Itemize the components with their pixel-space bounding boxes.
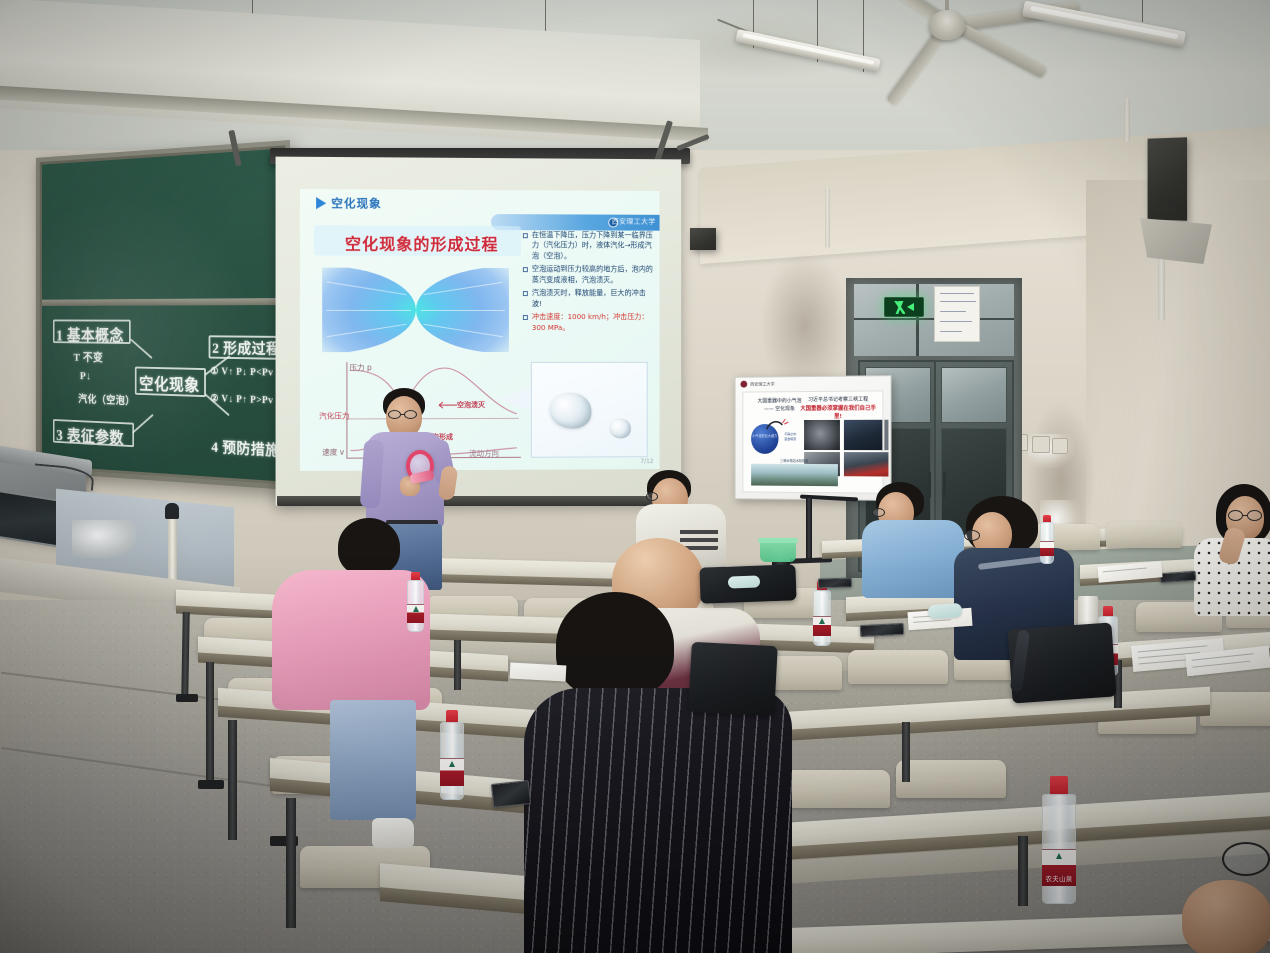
square-bullet-icon xyxy=(523,315,528,320)
face-mask[interactable] xyxy=(728,575,760,588)
venturi-flow-graphic xyxy=(322,268,509,353)
running-person-icon xyxy=(894,301,905,314)
poster-headline-right-line1: 习近平总书记考察三峡工程 xyxy=(799,397,877,405)
poster-photo-group xyxy=(844,452,889,476)
wall-pipe xyxy=(168,510,177,583)
chart-arrow-icon xyxy=(433,404,493,428)
transom-mullion xyxy=(916,284,919,356)
poster-org-name: 西安理工大学 xyxy=(750,381,775,387)
chart-ylabel-pressure: 压力 p xyxy=(349,362,371,373)
chalk-sub-right-1: ① V↑ P↓ P<Pv xyxy=(210,366,273,378)
pipe-cap-icon xyxy=(165,503,179,519)
poster-photo-impeller xyxy=(804,420,840,450)
glasses-icon xyxy=(964,530,980,541)
slide-bullet-list: 在恒温下降压，压力下降到某一临界压力（汽化压力）时，液体汽化→形成汽泡（空泡）。… xyxy=(523,230,656,336)
desk-foot xyxy=(176,694,198,702)
cavitation-bubble-small xyxy=(609,418,631,438)
slide-bullet-text: 空泡运动到压力较高的地方后，泡内的蒸汽变成液相，汽泡溃灭。 xyxy=(532,264,656,285)
bottle-brand-text: 农夫山泉 xyxy=(1042,873,1076,883)
poster-logo-row: 西安理工大学 xyxy=(740,380,774,387)
glasses-icon xyxy=(1247,510,1262,521)
wall-socket[interactable] xyxy=(1032,436,1050,453)
square-bullet-icon xyxy=(523,291,528,296)
poster-badge-label: 小气泡的巨大威力 xyxy=(752,434,777,438)
seat-back xyxy=(1200,692,1270,726)
bottle-label xyxy=(813,616,831,636)
projection-screen: 空化现象 西安理工大学 空化现象的形成过程 xyxy=(276,157,682,506)
presentation-slide: 空化现象 西安理工大学 空化现象的形成过程 xyxy=(300,189,660,471)
slide-bullet-text: 在恒温下降压，压力下降到某一临界压力（汽化压力）时，液体汽化→形成汽泡（空泡）。 xyxy=(532,230,656,262)
chalk-connector xyxy=(132,414,154,434)
green-basket xyxy=(760,540,796,562)
water-bottle[interactable] xyxy=(1040,522,1054,564)
poster-stand-pole xyxy=(806,498,812,562)
seat-back xyxy=(848,650,948,684)
water-bottle[interactable] xyxy=(813,590,831,646)
glasses-icon xyxy=(404,410,417,419)
glasses-bridge xyxy=(1243,515,1248,516)
slide-kicker: 空化现象 xyxy=(316,195,382,211)
chalk-sub-left-2: P↓ xyxy=(80,369,92,383)
chalk-connector xyxy=(130,339,152,359)
chalk-sub-left-3: 汽化（空泡） xyxy=(78,391,135,408)
glasses-icon xyxy=(646,492,658,501)
chalk-node-4: 4 预防措施 xyxy=(211,436,279,460)
bottle-label xyxy=(407,604,424,623)
chalk-sub-left-1: T 不变 xyxy=(73,349,103,365)
bottle-label xyxy=(440,758,464,786)
chalk-node-2: 2 形成过程 xyxy=(212,337,281,359)
chalk-sub-right-2: ② V↓ P↑ P>Pv xyxy=(210,393,273,406)
desk-leg xyxy=(286,798,296,928)
desk-leg xyxy=(181,612,189,698)
wall-conduit xyxy=(825,188,830,248)
poster-photo-inspection xyxy=(844,420,882,450)
wall-speaker xyxy=(690,228,716,250)
poster-caption: 三峡水电站水轮机组 xyxy=(751,458,838,463)
glasses-icon xyxy=(1222,842,1270,876)
chalk-center-node: 空化现象 xyxy=(139,370,200,396)
poster-fuse-icon xyxy=(765,416,790,430)
glasses-bridge xyxy=(401,414,405,415)
brand-mountain-icon xyxy=(449,761,455,767)
fan-hub xyxy=(929,10,965,40)
exit-sign xyxy=(884,297,924,317)
poster-headline-right-line2: 大国重器必须掌握在我们自己手里! xyxy=(799,404,877,421)
university-seal-icon xyxy=(740,381,747,388)
slide-bullet-item: 冲击速度：1000 km/h；冲击压力：300 MPa。 xyxy=(523,312,656,333)
attendee-head xyxy=(1182,880,1270,953)
screen-bottom-bar xyxy=(277,496,683,506)
handbag[interactable] xyxy=(688,642,778,716)
seat-back xyxy=(780,770,890,808)
attendee-shoe xyxy=(372,818,414,848)
slide-bullet-item: 空泡运动到压力较高的地方后，泡内的蒸汽变成液相，汽泡溃灭。 xyxy=(523,264,656,285)
wall-socket[interactable] xyxy=(1052,438,1068,454)
bottle-label xyxy=(1040,541,1054,556)
slide-page-number: 7/12 xyxy=(640,458,653,465)
water-bottle[interactable] xyxy=(440,722,464,800)
callout-tail xyxy=(497,386,533,412)
slide-bullet-text: 冲击速度：1000 km/h；冲击压力：300 MPa。 xyxy=(532,312,656,333)
seat-back xyxy=(896,760,1006,798)
brand-mountain-icon xyxy=(1056,853,1062,859)
wall-speaker xyxy=(1148,137,1187,220)
brand-mountain-icon xyxy=(819,618,825,624)
ribbon-org-text: 西安理工大学 xyxy=(612,217,656,227)
chart-ylabel-vapor-pressure: 汽化压力 xyxy=(319,410,349,421)
face-mask[interactable] xyxy=(928,603,963,619)
chart-ylabel-velocity: 速度 v xyxy=(322,447,344,458)
chalk-node-1: 1 基本概念 xyxy=(56,322,124,346)
seat-back xyxy=(1106,522,1182,548)
door-handle[interactable] xyxy=(943,472,946,498)
desk-leg xyxy=(228,720,237,840)
speaker-bracket xyxy=(1140,218,1212,264)
square-bullet-icon xyxy=(523,233,528,238)
smartphone[interactable] xyxy=(491,780,531,808)
poster-headline-right: 习近平总书记考察三峡工程 大国重器必须掌握在我们自己手里! xyxy=(799,397,877,421)
exit-arrow-icon xyxy=(907,303,914,311)
bubble-callout-panel xyxy=(531,362,648,458)
paper-sheet[interactable] xyxy=(510,663,567,682)
smartphone[interactable] xyxy=(860,623,905,637)
poster-photo-dam xyxy=(884,420,888,450)
paint-peel xyxy=(72,520,136,558)
water-bottle[interactable]: 农夫山泉 xyxy=(1042,794,1076,904)
glasses-icon xyxy=(1228,510,1243,521)
poster-photo-landscape xyxy=(751,464,838,486)
water-bottle[interactable] xyxy=(407,580,424,632)
classroom-scene: 1 基本概念 3 表征参数 2 形成过程 4 预防措施 空化现象 T 不变 P↓… xyxy=(0,0,1270,953)
basket-rim xyxy=(758,538,798,543)
slide-bullet-text: 汽泡溃灭时，释放能量，巨大的冲击波! xyxy=(532,288,656,309)
chart-xlabel-flow-direction: 流动方向 xyxy=(469,448,499,459)
attendee-jeans xyxy=(330,700,416,820)
blackboard: 1 基本概念 3 表征参数 2 形成过程 4 预防措施 空化现象 T 不变 P↓… xyxy=(36,140,290,490)
slide-bullet-item: 在恒温下降压，压力下降到某一临界压力（汽化压力）时，液体汽化→形成汽泡（空泡）。 xyxy=(523,230,656,262)
attendee-torso xyxy=(862,520,964,598)
smartphone[interactable] xyxy=(818,577,852,588)
triangle-bullet-icon xyxy=(316,197,326,209)
exhibition-poster: 西安理工大学 大国重器中的小气泡 —— 空化现象 习近平总书记考察三峡工程 大国… xyxy=(735,375,892,501)
attendee-torso xyxy=(524,688,792,953)
poster-content: 大国重器中的小气泡 —— 空化现象 习近平总书记考察三峡工程 大国重器必须掌握在… xyxy=(742,390,883,493)
slide-kicker-text: 空化现象 xyxy=(331,195,381,211)
glasses-icon xyxy=(872,508,885,517)
desk-leg xyxy=(454,640,461,690)
door-glass-pane xyxy=(941,367,1007,423)
desk-leg xyxy=(206,662,214,784)
desk-foot xyxy=(198,780,224,789)
slide-bullet-item: 汽泡溃灭时，释放能量，巨大的冲击波! xyxy=(523,288,656,309)
door-handle[interactable] xyxy=(928,472,931,498)
brand-mountain-icon xyxy=(413,606,419,612)
light-wire xyxy=(1142,0,1143,22)
glasses-icon xyxy=(388,410,401,419)
door-notice-paper xyxy=(934,286,980,342)
wall-conduit xyxy=(1124,98,1130,142)
slide-subtitle: 空化现象的形成过程 xyxy=(326,230,517,255)
chalk-node-3: 3 表征参数 xyxy=(56,422,124,449)
cavitation-bubble-large xyxy=(550,393,592,429)
desk-leg xyxy=(902,722,910,782)
desk-leg xyxy=(1018,836,1028,906)
square-bullet-icon xyxy=(523,267,528,272)
